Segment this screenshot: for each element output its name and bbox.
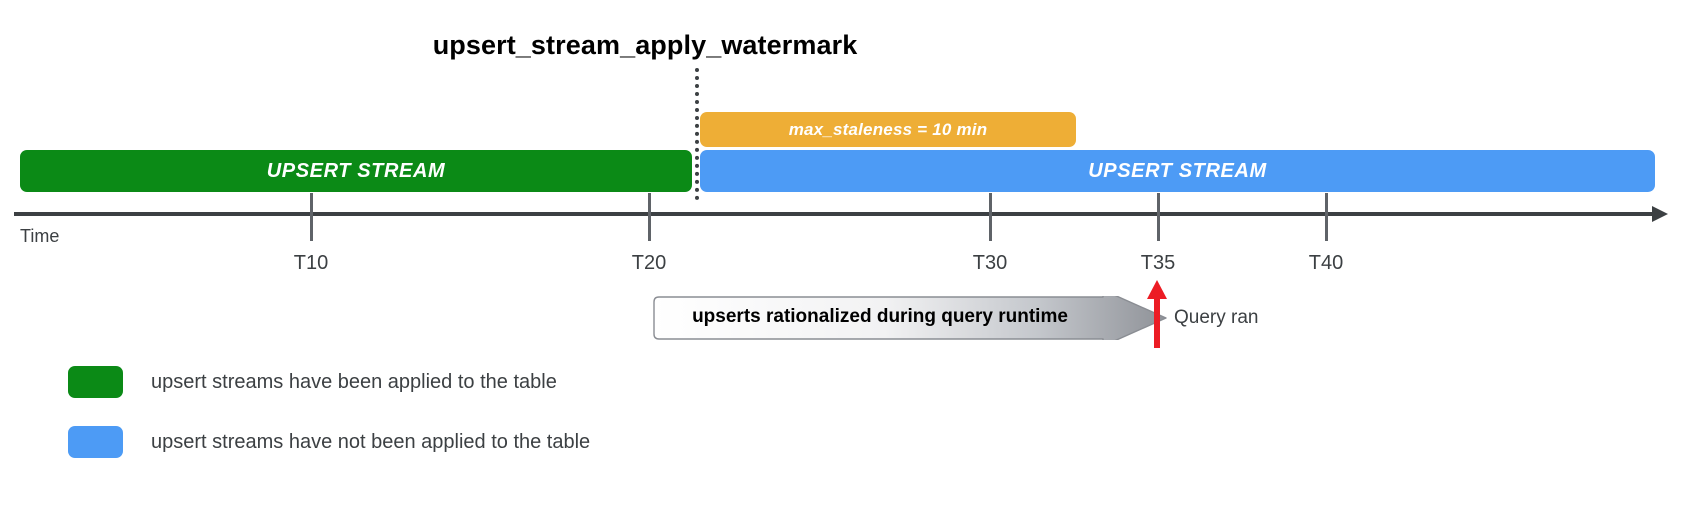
max-staleness-bar: max_staleness = 10 min [700,112,1076,147]
callout-text: upserts rationalized during query runtim… [660,306,1100,328]
watermark-dotted-line [695,68,699,200]
legend-label: upsert streams have been applied to the … [151,371,557,394]
legend-swatch [68,366,123,398]
query-ran-arrow-icon [1146,280,1168,348]
time-axis-line [14,212,1660,216]
legend-swatch [68,426,123,458]
axis-tick [989,193,992,241]
page-title: upsert_stream_apply_watermark [0,30,1290,61]
axis-tick-label: T10 [281,252,341,275]
legend-item: upsert streams have not been applied to … [68,412,590,472]
axis-tick-label: T35 [1128,252,1188,275]
axis-tick [648,193,651,241]
axis-tick-label: T20 [619,252,679,275]
axis-tick [1325,193,1328,241]
axis-tick [1157,193,1160,241]
query-ran-label: Query ran [1174,307,1258,329]
upsert-stream-not-applied-bar: UPSERT STREAM [700,150,1655,192]
time-axis-label: Time [20,226,59,247]
axis-tick [310,193,313,241]
diagram-canvas: upsert_stream_apply_watermark max_stalen… [0,0,1696,530]
axis-tick-label: T40 [1296,252,1356,275]
axis-tick-label: T30 [960,252,1020,275]
upsert-stream-applied-bar: UPSERT STREAM [20,150,692,192]
legend: upsert streams have been applied to the … [68,352,590,472]
time-axis-arrow-icon [1652,206,1668,222]
legend-label: upsert streams have not been applied to … [151,431,590,454]
legend-item: upsert streams have been applied to the … [68,352,590,412]
